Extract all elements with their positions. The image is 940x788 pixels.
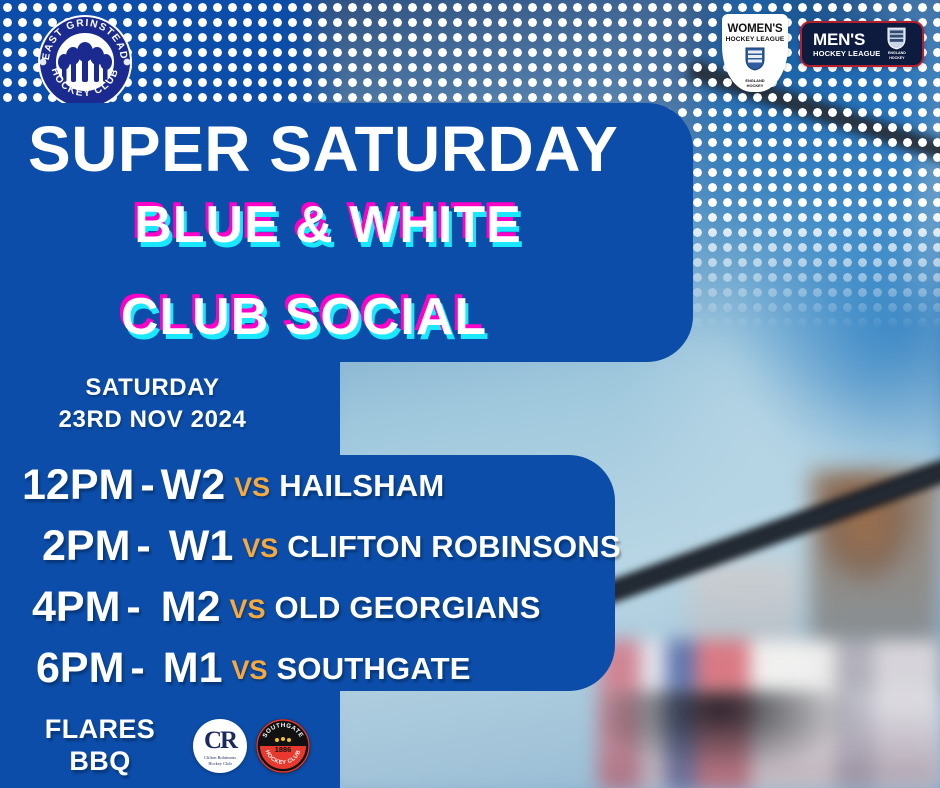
mens-badge-line2: HOCKEY LEAGUE <box>813 50 880 58</box>
extras-line-2: BBQ <box>0 746 200 778</box>
mens-badge-governing-body: ENGLAND HOCKEY <box>888 51 906 60</box>
event-day: SATURDAY <box>0 372 305 404</box>
england-hockey-shield-icon <box>745 47 765 76</box>
fixture-row: 2PM - W1 VS CLIFTON ROBINSONS <box>0 516 660 577</box>
fixture-list: 12PM - W2 VS HAILSHAM 2PM - W1 VS CLIFTO… <box>0 455 660 699</box>
clifton-robinsons-hockey-club-crest: CR Clifton Robinsons Hockey Club <box>193 719 247 773</box>
fixture-time: 6PM <box>34 644 124 693</box>
fixture-time: 4PM <box>32 583 120 632</box>
headline-line-1: SUPER SATURDAY <box>28 117 688 181</box>
fixture-row: 12PM - W2 VS HAILSHAM <box>0 455 660 516</box>
fixture-opponent: HAILSHAM <box>279 468 444 504</box>
womens-badge-line1: WOMEN'S <box>727 23 782 35</box>
super-saturday-poster: EAST GRINSTEAD HOCKEY CLUB WOMEN'S HOCKE… <box>0 0 940 788</box>
headline-block: SUPER SATURDAY BLUE & WHITE CLUB SOCIAL <box>0 103 700 362</box>
womens-badge-line2: HOCKEY LEAGUE <box>726 36 785 43</box>
photo-dark-corner <box>600 690 940 788</box>
fixture-row: 4PM - M2 VS OLD GEORGIANS <box>0 577 660 638</box>
fixture-home-team: W2 <box>161 461 226 510</box>
crest-caption: Clifton Robinsons Hockey Club <box>204 755 236 766</box>
fixture-time: 2PM <box>42 522 130 571</box>
fixture-opponent: CLIFTON ROBINSONS <box>287 529 621 565</box>
fixture-vs-label: VS <box>233 533 287 564</box>
mens-badge-line1: MEN'S <box>813 31 880 48</box>
fixture-dash: - <box>124 644 150 693</box>
extras-line-1: FLARES <box>0 714 200 746</box>
fixture-opponent: OLD GEORGIANS <box>275 590 541 626</box>
england-hockey-shield-icon: ENGLAND HOCKEY <box>887 27 906 60</box>
event-date: SATURDAY 23RD NOV 2024 <box>0 372 305 437</box>
fixture-vs-label: VS <box>225 472 279 503</box>
fixture-home-team: M2 <box>147 583 221 632</box>
southgate-hockey-club-crest: 1886 SOUTHGATE HOCKEY CLUB <box>256 719 310 773</box>
crest-caption-line2: Hockey Club <box>208 761 231 766</box>
fixture-home-team: M1 <box>151 644 223 693</box>
fixture-dash: - <box>130 522 156 571</box>
fixture-row: 6PM - M1 VS SOUTHGATE <box>0 638 660 699</box>
svg-text:1886: 1886 <box>275 745 291 754</box>
east-grinstead-hockey-club-logo: EAST GRINSTEAD HOCKEY CLUB <box>33 10 137 114</box>
fixture-vs-label: VS <box>220 594 274 625</box>
womens-badge-governing-body: ENGLAND HOCKEY <box>745 78 764 88</box>
eh-line2: HOCKEY <box>747 83 764 88</box>
mens-hockey-league-badge: MEN'S HOCKEY LEAGUE ENGLAND HOCKEY <box>800 21 924 67</box>
extras-text: FLARES BBQ <box>0 714 200 778</box>
fixture-time: 12PM <box>22 461 134 510</box>
headline-line-2: BLUE & WHITE <box>0 199 678 251</box>
fixture-dash: - <box>120 583 146 632</box>
eh-line2: HOCKEY <box>889 56 904 60</box>
eh-line1: ENGLAND <box>888 51 906 55</box>
fixture-opponent: SOUTHGATE <box>277 651 471 687</box>
headline-line-3: CLUB SOCIAL <box>0 291 654 343</box>
fixture-dash: - <box>134 461 160 510</box>
event-full-date: 23RD NOV 2024 <box>0 404 305 436</box>
fixture-home-team: W1 <box>157 522 234 571</box>
crest-monogram: CR <box>204 728 236 753</box>
fixture-vs-label: VS <box>222 655 276 686</box>
crest-caption-line1: Clifton Robinsons <box>204 755 236 760</box>
